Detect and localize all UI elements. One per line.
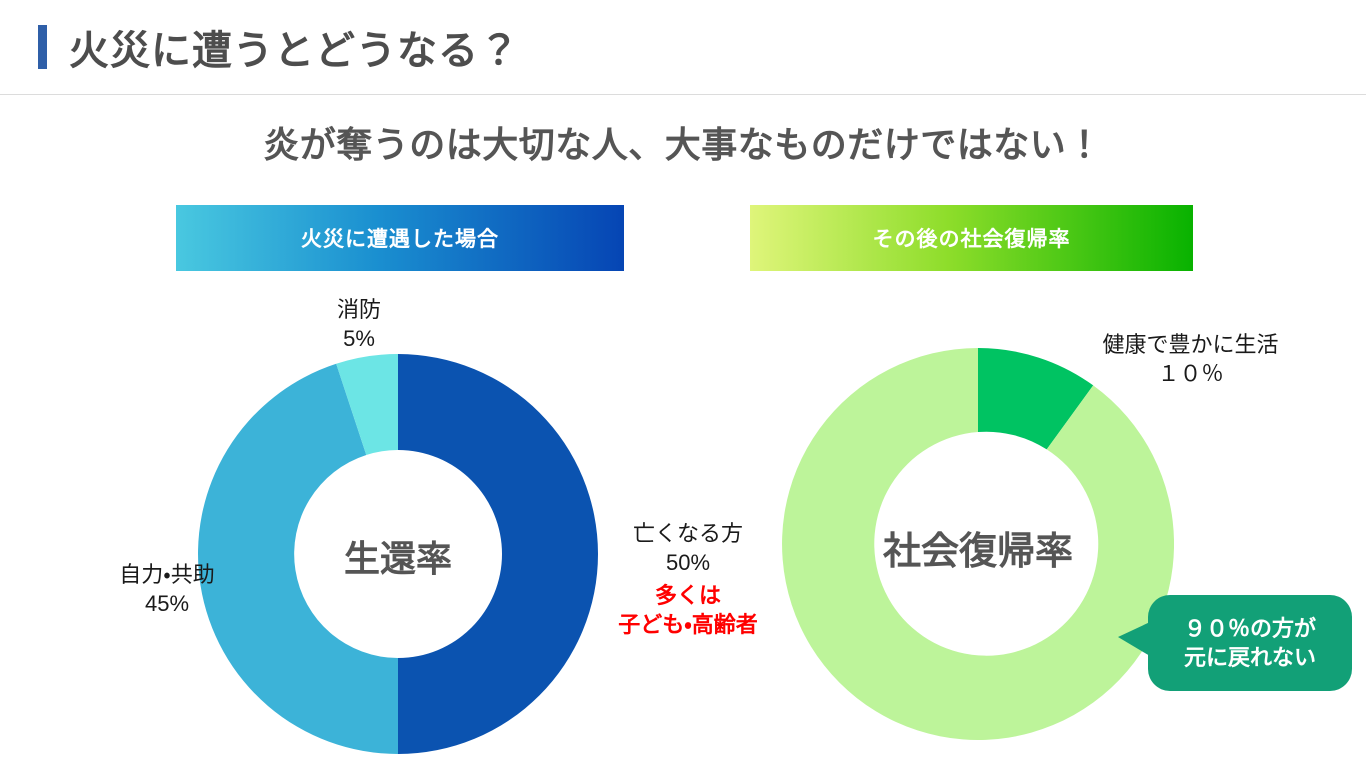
chart-label-fire-department-value: 5% — [294, 324, 424, 353]
page-header: 火災に遭うとどうなる？ — [0, 0, 1366, 95]
section-banner-social-recovery-label: その後の社会復帰率 — [873, 223, 1071, 253]
donut-chart-social-recovery: 社会復帰率 — [782, 348, 1174, 740]
donut-center-label-social-recovery: 社会復帰率 — [782, 520, 1174, 575]
donut-chart-survival-rate: 生還率 — [198, 354, 598, 754]
speech-bubble-line1: ９０％の方が — [1184, 614, 1316, 643]
chart-label-healthy-life-name: 健康で豊かに生活 — [1068, 330, 1313, 359]
section-banner-fire-encounter-label: 火災に遭遇した場合 — [301, 223, 499, 253]
page-subtitle: 炎が奪うのは大切な人、大事なものだけではない！ — [0, 116, 1366, 168]
speech-bubble-tail-icon — [1118, 622, 1150, 656]
page-title: 火災に遭うとどうなる？ — [69, 18, 520, 76]
chart-label-death-emphasis-line2: 子ども・高齢者 — [588, 611, 788, 640]
header-accent-bar — [38, 25, 47, 69]
chart-label-death-emphasis-line1: 多くは — [588, 582, 788, 611]
chart-label-self-help: 自力・共助 45% — [72, 560, 262, 618]
chart-label-fire-department-name: 消防 — [294, 295, 424, 324]
speech-bubble-line2: 元に戻れない — [1184, 643, 1316, 672]
chart-label-death-name: 亡くなる方 — [588, 519, 788, 548]
chart-label-self-help-value: 45% — [72, 589, 262, 618]
chart-label-death-value: 50% — [588, 548, 788, 577]
chart-label-healthy-life-value: １０％ — [1068, 359, 1313, 388]
section-banner-fire-encounter: 火災に遭遇した場合 — [176, 205, 624, 271]
section-banner-social-recovery: その後の社会復帰率 — [750, 205, 1193, 271]
chart-label-death: 亡くなる方 50% 多くは 子ども・高齢者 — [588, 519, 788, 639]
speech-bubble-cannot-recover: ９０％の方が 元に戻れない — [1148, 595, 1352, 691]
chart-label-self-help-name: 自力・共助 — [72, 560, 262, 589]
chart-label-healthy-life: 健康で豊かに生活 １０％ — [1068, 330, 1313, 388]
chart-label-fire-department: 消防 5% — [294, 295, 424, 353]
